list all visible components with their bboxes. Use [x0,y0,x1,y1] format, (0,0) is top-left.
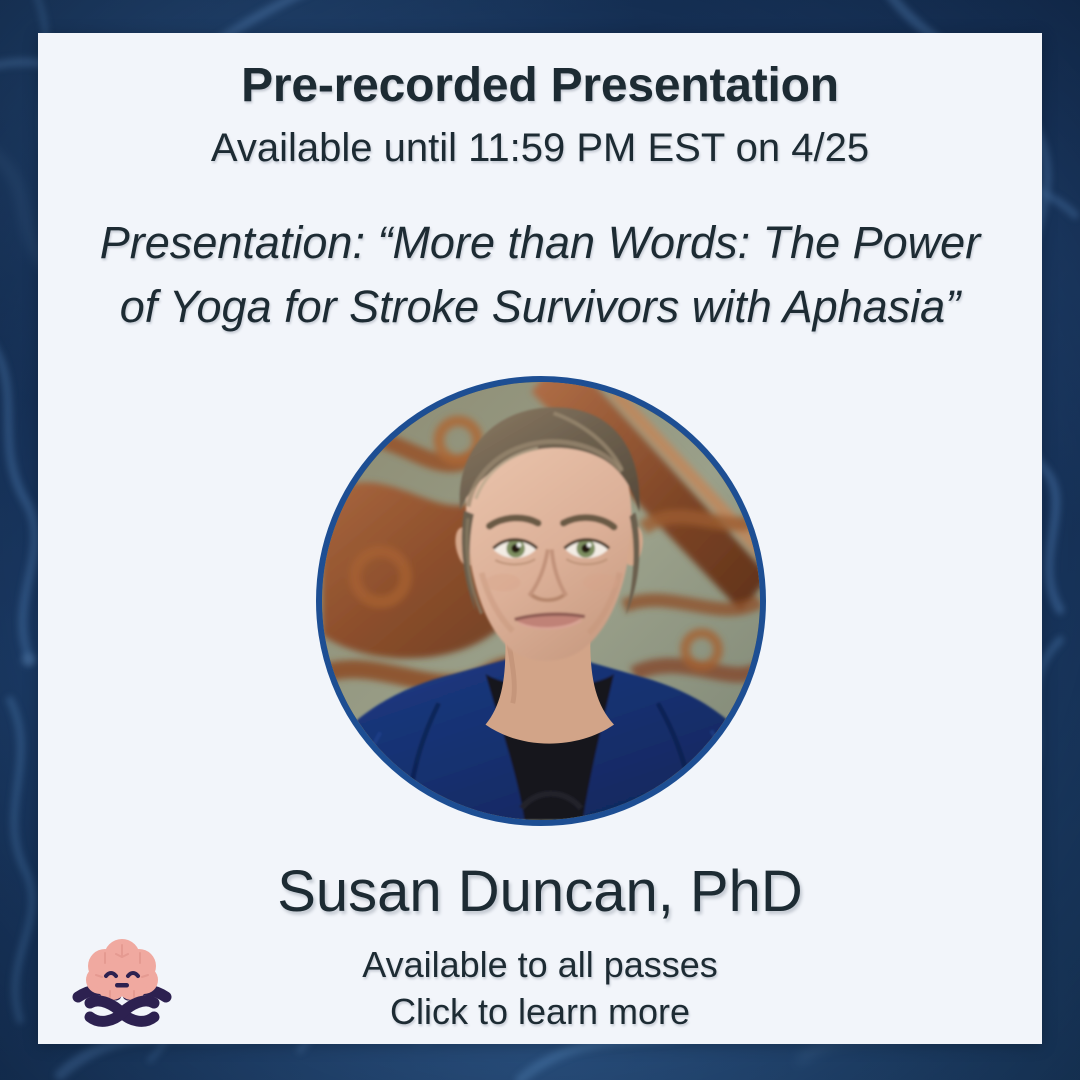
meditating-brain-logo-icon[interactable] [64,923,180,1033]
promo-graphic: Pre-recorded Presentation Available unti… [0,0,1080,1080]
availability-text: Available until 11:59 PM EST on 4/25 [38,126,1042,171]
content-card[interactable]: Pre-recorded Presentation Available unti… [38,33,1042,1044]
presentation-title: Presentation: “More than Words: The Powe… [78,211,1002,339]
speaker-name: Susan Duncan, PhD [38,858,1042,925]
page-title: Pre-recorded Presentation [38,58,1042,113]
speaker-portrait [316,376,766,826]
click-to-learn-more-link[interactable]: Click to learn more [38,991,1042,1033]
pass-availability-note: Available to all passes [38,944,1042,986]
